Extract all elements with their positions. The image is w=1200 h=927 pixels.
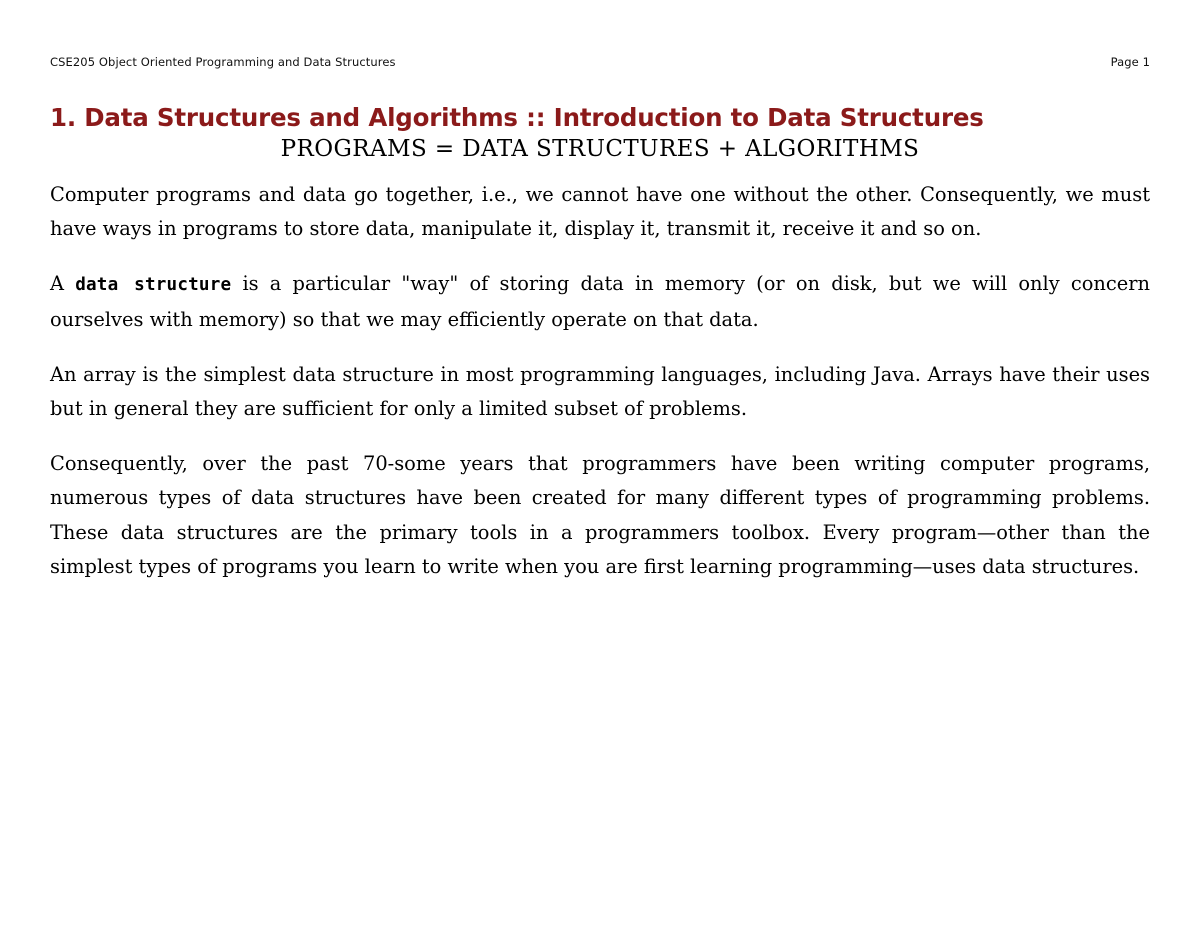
inline-term-data-structure: data structure	[75, 275, 231, 295]
header-page-number: Page 1	[1111, 55, 1150, 69]
paragraph-3: An array is the simplest data structure …	[50, 358, 1150, 426]
display-equation: PROGRAMS = DATA STRUCTURES + ALGORITHMS	[50, 136, 1150, 162]
paragraph-4: Consequently, over the past 70-some year…	[50, 447, 1150, 584]
header-course-title: CSE205 Object Oriented Programming and D…	[50, 55, 396, 69]
paragraph-2-lead: A	[50, 272, 75, 295]
document-page: CSE205 Object Oriented Programming and D…	[0, 0, 1200, 927]
section-heading: 1. Data Structures and Algorithms :: Int…	[50, 103, 1150, 132]
body-column: Computer programs and data go together, …	[50, 178, 1150, 584]
paragraph-2: A data structure is a particular "way" o…	[50, 267, 1150, 336]
paragraph-1: Computer programs and data go together, …	[50, 178, 1150, 246]
running-header: CSE205 Object Oriented Programming and D…	[50, 55, 1150, 69]
